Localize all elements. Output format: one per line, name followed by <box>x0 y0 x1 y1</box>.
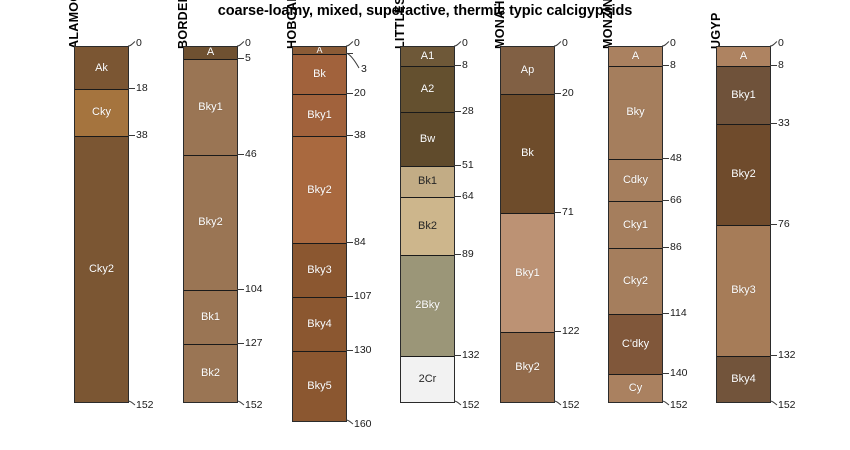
depth-tick-label: 0 <box>245 38 251 49</box>
soil-horizon: Cky2 <box>609 248 662 313</box>
horizon-label: Ak <box>95 63 108 74</box>
horizon-label: Bky2 <box>198 217 222 228</box>
soil-horizon: A <box>184 47 237 59</box>
depth-tick-label: 38 <box>354 130 366 141</box>
depth-tick-label: 86 <box>670 242 682 253</box>
depth-tick-label: 76 <box>778 219 790 230</box>
depth-tick-mark <box>454 355 461 356</box>
depth-tick-label: 84 <box>354 237 366 248</box>
depth-tick-mark <box>237 154 244 155</box>
depth-tick-mark <box>237 289 244 290</box>
soil-horizon: C'dky <box>609 314 662 375</box>
depth-tick-label: 48 <box>670 153 682 164</box>
soil-horizon: Bk1 <box>401 166 454 196</box>
depth-tick-label: 51 <box>462 160 474 171</box>
horizon-label: A <box>632 51 639 62</box>
soil-horizon: Bky2 <box>184 155 237 291</box>
depth-tick-label: 160 <box>354 419 372 430</box>
depth-tick-mark <box>662 247 669 248</box>
horizon-label: A <box>316 47 322 54</box>
depth-tick-mark <box>770 224 777 225</box>
depth-tick-mark <box>662 65 669 66</box>
depth-tick-mark <box>454 65 461 66</box>
depth-tick-label: 0 <box>354 38 360 49</box>
soil-horizon: Bky1 <box>293 94 346 136</box>
depth-tick-label: 130 <box>354 345 372 356</box>
depth-tick-mark <box>662 373 669 374</box>
depth-tick-label: 8 <box>670 60 676 71</box>
profile-name-label: UGYP <box>709 12 723 49</box>
depth-tick-mark <box>662 200 669 201</box>
horizon-label: Bky2 <box>515 362 539 373</box>
depth-tick-mark <box>237 58 244 59</box>
depth-tick-label: 8 <box>462 60 468 71</box>
horizon-label: Bw <box>420 134 435 145</box>
depth-tick-label: 71 <box>562 207 574 218</box>
horizon-label: A <box>207 47 214 58</box>
horizon-label: C'dky <box>622 339 649 350</box>
horizon-label: Cdky <box>623 175 648 186</box>
depth-tick-label: 104 <box>245 284 263 295</box>
horizon-label: Bk2 <box>201 368 220 379</box>
depth-tick-mark <box>770 123 777 124</box>
depth-tick-label: 107 <box>354 291 372 302</box>
soil-horizon: Bk2 <box>184 344 237 402</box>
depth-tick-label: 152 <box>462 400 480 411</box>
depth-tick-label: 8 <box>778 60 784 71</box>
depth-tick-mark <box>346 135 353 136</box>
soil-horizon: Bky1 <box>501 213 554 332</box>
horizon-label: Bky <box>626 107 644 118</box>
soil-horizon: Bky4 <box>293 297 346 351</box>
depth-tick-mark <box>770 355 777 356</box>
depth-tick-mark <box>454 196 461 197</box>
horizon-label: Bk2 <box>418 221 437 232</box>
horizon-label: Cky1 <box>623 220 648 231</box>
depth-leader-line <box>346 48 364 72</box>
horizon-label: Bky1 <box>515 268 539 279</box>
horizon-label: Bky3 <box>731 285 755 296</box>
horizon-label: Bky2 <box>731 169 755 180</box>
depth-tick-label: 18 <box>136 83 148 94</box>
depth-tick-mark <box>454 111 461 112</box>
depth-tick-label: 5 <box>245 53 251 64</box>
depth-tick-label: 114 <box>670 308 687 319</box>
depth-tick-mark <box>128 135 135 136</box>
soil-horizon: Cdky <box>609 159 662 201</box>
depth-tick-mark <box>237 343 244 344</box>
profile-column: AkCkyCky2 <box>74 46 129 403</box>
horizon-label: Cy <box>629 383 642 394</box>
horizon-label: Bk1 <box>201 312 220 323</box>
profile-name-label: ALAMOGORDO <box>67 0 81 49</box>
depth-tick-mark <box>128 88 135 89</box>
depth-tick-mark <box>346 296 353 297</box>
horizon-label: Bky4 <box>731 374 755 385</box>
soil-horizon: A <box>717 47 770 66</box>
profile-column: ApBkBky1Bky2 <box>500 46 555 403</box>
profile-name-label: LITTLESIGNAL <box>393 0 407 49</box>
soil-horizon: Bky2 <box>293 136 346 244</box>
profile-column: ABky1Bky2Bk1Bk2 <box>183 46 238 403</box>
horizon-label: Cky2 <box>89 264 114 275</box>
soil-horizon: Bky1 <box>184 59 237 155</box>
horizon-label: Bky4 <box>307 319 331 330</box>
profile-column: ABkBky1Bky2Bky3Bky4Bky5 <box>292 46 347 422</box>
depth-tick-label: 152 <box>562 400 580 411</box>
depth-tick-mark <box>346 350 353 351</box>
depth-tick-label: 122 <box>562 326 580 337</box>
soil-horizon: Ak <box>75 47 128 89</box>
profile-column: ABkyCdkyCky1Cky2C'dkyCy <box>608 46 663 403</box>
horizon-label: Bky5 <box>307 381 331 392</box>
profile-column: A1A2BwBk1Bk22Bky2Cr <box>400 46 455 403</box>
profile-name-label: HOBCAN <box>285 0 299 49</box>
horizon-label: Cky2 <box>623 276 648 287</box>
depth-tick-label: 20 <box>562 88 574 99</box>
depth-tick-mark <box>454 165 461 166</box>
depth-tick-label: 0 <box>778 38 784 49</box>
depth-tick-mark <box>554 212 561 213</box>
profile-name-label: MONZINGO <box>601 0 615 49</box>
depth-tick-mark <box>554 93 561 94</box>
soil-horizon: Bky3 <box>293 243 346 297</box>
depth-tick-label: 132 <box>778 350 796 361</box>
depth-tick-mark <box>662 158 669 159</box>
soil-horizon: A1 <box>401 47 454 66</box>
soil-horizon: Cky2 <box>75 136 128 403</box>
depth-tick-label: 38 <box>136 130 148 141</box>
horizon-label: A2 <box>421 84 434 95</box>
soil-horizon: A2 <box>401 66 454 113</box>
profile-name-label: MONAHANS <box>493 0 507 49</box>
profile-column: ABky1Bky2Bky3Bky4 <box>716 46 771 403</box>
depth-tick-mark <box>454 254 461 255</box>
depth-tick-mark <box>770 65 777 66</box>
soil-horizon: Bk2 <box>401 197 454 255</box>
depth-tick-label: 0 <box>462 38 468 49</box>
depth-tick-label: 64 <box>462 191 474 202</box>
soil-horizon: Cky1 <box>609 201 662 248</box>
soil-horizon: Bk <box>501 94 554 213</box>
soil-horizon: Bk <box>293 54 346 94</box>
soil-profile-figure: coarse-loamy, mixed, superactive, thermi… <box>0 0 850 450</box>
soil-horizon: 2Cr <box>401 356 454 403</box>
horizon-label: Ap <box>521 65 534 76</box>
depth-tick-label: 0 <box>562 38 568 49</box>
depth-tick-label: 28 <box>462 106 474 117</box>
horizon-label: Bk <box>521 148 534 159</box>
horizon-label: Bky1 <box>731 90 755 101</box>
soil-horizon: Bky1 <box>717 66 770 124</box>
depth-tick-label: 152 <box>136 400 154 411</box>
depth-tick-label: 152 <box>245 400 263 411</box>
depth-tick-mark <box>346 93 353 94</box>
depth-tick-label: 0 <box>136 38 142 49</box>
horizon-label: Bky1 <box>307 110 331 121</box>
horizon-label: A <box>740 51 747 62</box>
depth-tick-label: 89 <box>462 249 474 260</box>
horizon-label: Bk <box>313 69 326 80</box>
depth-tick-label: 20 <box>354 88 366 99</box>
soil-horizon: Bky5 <box>293 351 346 421</box>
depth-tick-label: 140 <box>670 368 688 379</box>
soil-horizon: Bky2 <box>501 332 554 402</box>
horizon-label: A1 <box>421 51 434 62</box>
soil-horizon: A <box>609 47 662 66</box>
horizon-label: Bky1 <box>198 102 222 113</box>
soil-horizon: Bky4 <box>717 356 770 403</box>
profile-name-label: BORDERLINE <box>176 0 190 49</box>
depth-tick-label: 33 <box>778 118 790 129</box>
soil-horizon: Cky <box>75 89 128 136</box>
soil-horizon: Bky3 <box>717 225 770 356</box>
soil-horizon: Bky2 <box>717 124 770 225</box>
depth-tick-label: 66 <box>670 195 682 206</box>
depth-tick-label: 46 <box>245 149 257 160</box>
horizon-label: Bk1 <box>418 176 437 187</box>
soil-horizon: Cy <box>609 374 662 402</box>
horizon-label: Bky2 <box>307 185 331 196</box>
horizon-label: Cky <box>92 107 111 118</box>
depth-tick-label: 132 <box>462 350 480 361</box>
depth-tick-label: 152 <box>778 400 796 411</box>
horizon-label: Bky3 <box>307 265 331 276</box>
soil-horizon: A <box>293 47 346 54</box>
horizon-label: 2Bky <box>415 300 439 311</box>
depth-tick-label: 0 <box>670 38 676 49</box>
depth-tick-label: 127 <box>245 338 263 349</box>
soil-horizon: Bk1 <box>184 290 237 344</box>
soil-horizon: Bky <box>609 66 662 160</box>
depth-tick-mark <box>554 331 561 332</box>
soil-horizon: 2Bky <box>401 255 454 356</box>
depth-tick-label: 152 <box>670 400 688 411</box>
horizon-label: 2Cr <box>419 374 437 385</box>
depth-tick-mark <box>346 242 353 243</box>
soil-horizon: Bw <box>401 112 454 166</box>
soil-horizon: Ap <box>501 47 554 94</box>
depth-tick-mark <box>662 313 669 314</box>
